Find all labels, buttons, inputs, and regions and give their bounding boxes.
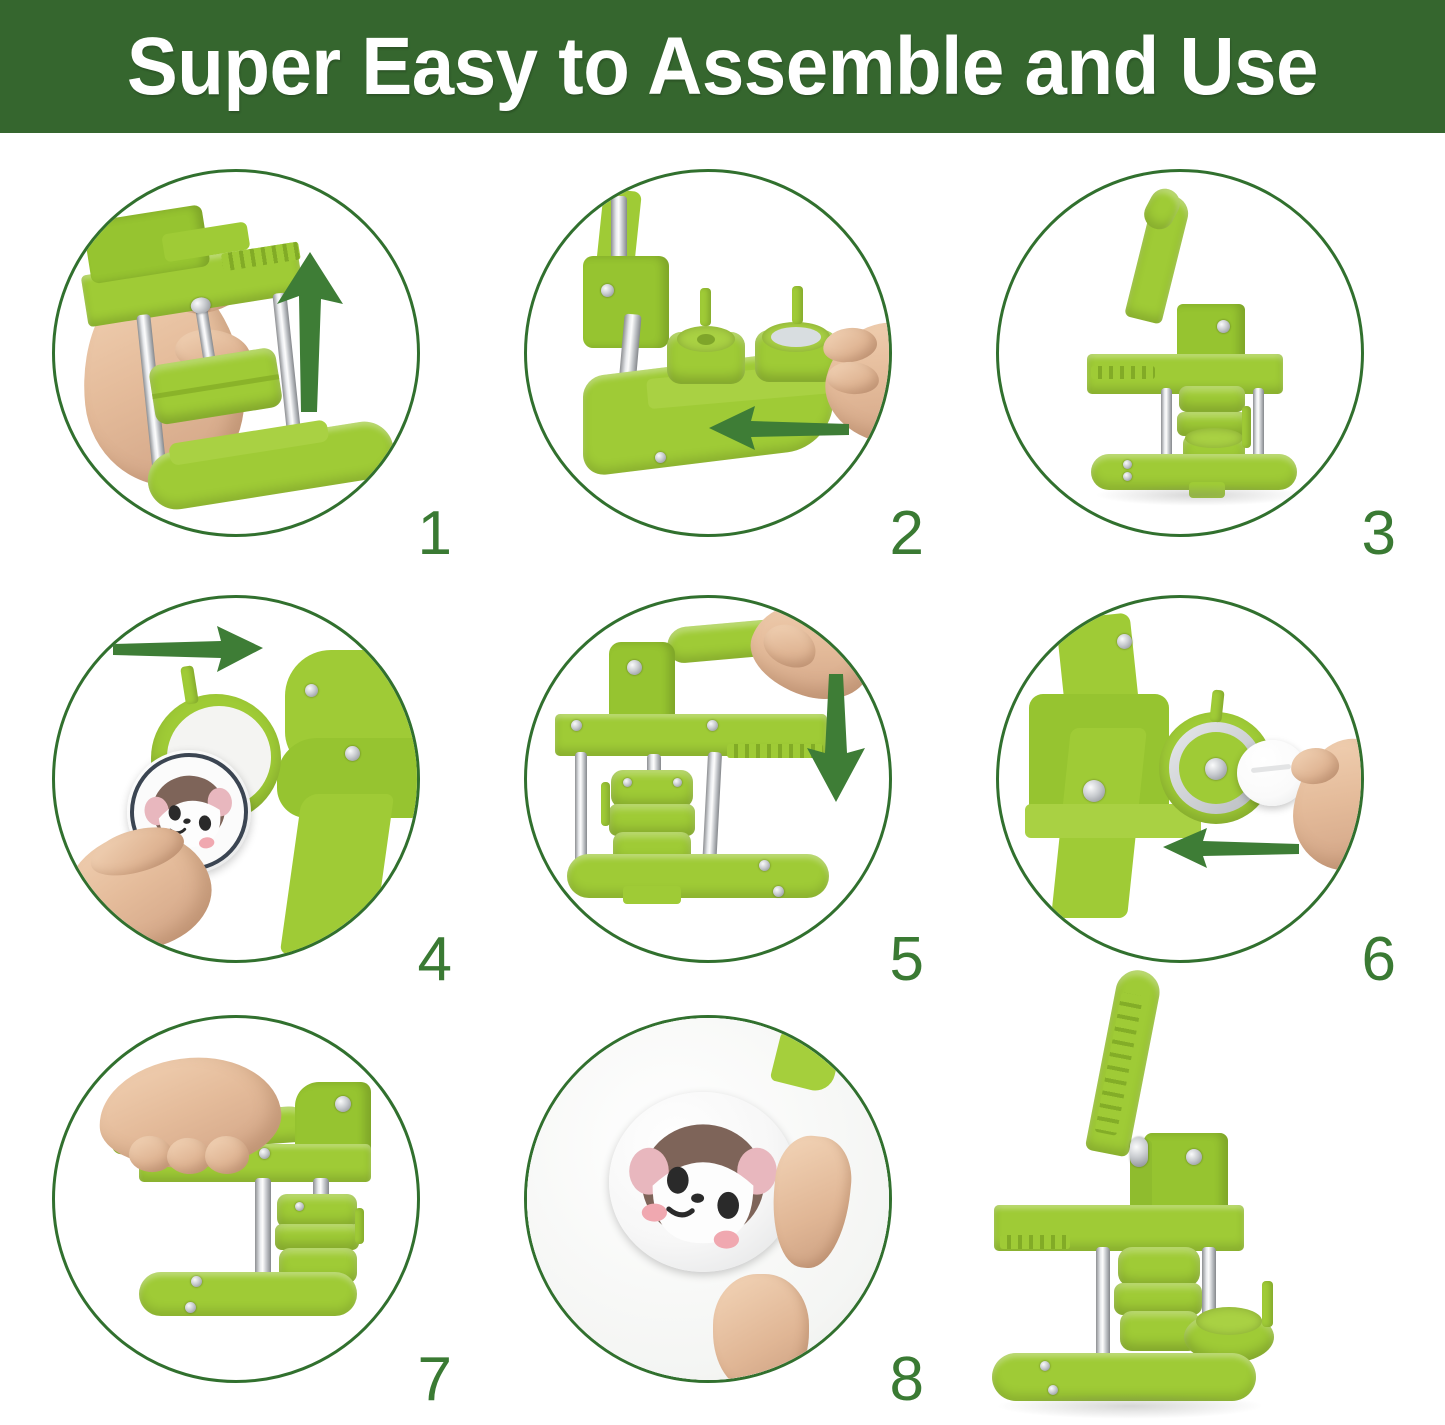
step-number: 3 <box>1362 503 1396 565</box>
base-foot <box>623 886 681 904</box>
upper-mold <box>1118 1247 1200 1287</box>
screw-icon <box>571 720 582 731</box>
screw-icon <box>191 1276 202 1287</box>
step-7-photo-frame <box>52 1015 420 1383</box>
hero-product-scene <box>944 953 1414 1425</box>
screw-icon <box>673 778 682 787</box>
guide-pillar-left <box>1161 388 1172 464</box>
header-banner: Super Easy to Assemble and Use <box>0 0 1445 133</box>
step-1-scene <box>55 172 420 537</box>
step-4-scene <box>55 598 420 963</box>
screw-icon <box>1117 634 1132 649</box>
upper-mold <box>277 1194 357 1228</box>
step-7-scene <box>55 1018 420 1383</box>
screw-icon <box>1123 460 1132 469</box>
screw-icon <box>185 1302 196 1313</box>
lever-teeth <box>1091 366 1155 379</box>
screw-icon <box>627 660 642 675</box>
step-number: 1 <box>418 503 452 565</box>
pivot-pin-icon <box>1130 1137 1148 1167</box>
step-5-photo-frame <box>524 595 892 963</box>
screw-icon <box>655 452 666 463</box>
steps-grid: 1 <box>0 133 1445 1425</box>
step-1-cell: 1 <box>0 143 470 567</box>
arrow-left-icon <box>709 404 849 450</box>
step-8-photo-frame <box>524 1015 892 1383</box>
center-screw-icon <box>1205 758 1227 780</box>
screw-icon <box>1083 780 1105 802</box>
base-plate <box>567 854 829 898</box>
machine-column <box>280 794 394 954</box>
arrow-up-icon <box>271 252 349 412</box>
screw-icon <box>1186 1149 1202 1165</box>
mold-cavity <box>1185 428 1243 448</box>
screw-icon <box>345 746 360 761</box>
step-3-cell: 3 <box>944 143 1414 567</box>
screw-icon <box>773 886 784 897</box>
step-number: 2 <box>890 503 924 565</box>
finger-icon <box>205 1136 249 1174</box>
arrow-down-icon <box>803 674 869 802</box>
guide-pillar-right <box>702 752 722 871</box>
monkey-face-icon <box>609 1092 797 1272</box>
step-6-cell: 6 <box>944 569 1414 993</box>
step-4-photo-frame <box>52 595 420 963</box>
step-1-photo-frame <box>52 169 420 537</box>
mold-release-post <box>1262 1281 1273 1327</box>
spare-mold-cavity <box>1196 1307 1262 1335</box>
guide-pillar-left <box>575 752 587 870</box>
guide-pillar-right <box>1253 388 1264 464</box>
screw-icon <box>335 1096 351 1112</box>
screw-icon <box>1048 1385 1058 1395</box>
mid-mold <box>275 1224 359 1250</box>
step-3-scene <box>999 172 1364 537</box>
step-number: 8 <box>890 1349 924 1411</box>
drop-shadow <box>1095 484 1301 506</box>
drop-shadow <box>996 1393 1264 1419</box>
screw-icon <box>601 284 614 297</box>
screw-icon <box>759 860 770 871</box>
screw-icon <box>623 778 632 787</box>
screw-icon <box>707 720 718 731</box>
step-6-scene <box>999 598 1364 963</box>
step-3-photo-frame <box>996 169 1364 537</box>
screw-icon <box>1217 320 1230 333</box>
step-5-cell: 5 <box>472 569 942 993</box>
step-7-cell: 7 <box>0 989 470 1413</box>
upper-mold <box>611 770 693 808</box>
mold-release-post <box>355 1208 364 1244</box>
arrow-left-icon <box>1163 826 1299 868</box>
finished-button <box>609 1092 797 1272</box>
step-8-cell: 8 <box>472 989 942 1413</box>
mold-release-post <box>1242 406 1251 448</box>
base-plate <box>139 1272 357 1316</box>
finger-icon <box>713 1274 809 1383</box>
step-6-photo-frame <box>996 595 1364 963</box>
mold-release-post <box>601 782 610 826</box>
mold-lower <box>667 320 745 386</box>
step-number: 4 <box>418 929 452 991</box>
screw-icon <box>1040 1361 1050 1371</box>
step-4-cell: 4 <box>0 569 470 993</box>
page-title: Super Easy to Assemble and Use <box>127 26 1318 108</box>
upper-mold <box>1179 386 1245 412</box>
screw-icon <box>259 1148 270 1159</box>
screw-icon <box>305 684 318 697</box>
step-number: 6 <box>1362 929 1396 991</box>
step-number: 5 <box>890 929 924 991</box>
step-2-photo-frame <box>524 169 892 537</box>
infographic-page: Super Easy to Assemble and Use <box>0 0 1445 1425</box>
mold-post <box>792 286 803 324</box>
step-2-scene <box>527 172 892 537</box>
mold-post <box>700 288 711 326</box>
screw-icon <box>1123 472 1132 481</box>
lever-teeth <box>1000 1235 1070 1249</box>
screw-icon <box>295 1202 304 1211</box>
step-2-cell: 2 <box>472 143 942 567</box>
step-5-scene <box>527 598 892 963</box>
arrow-right-icon <box>113 624 263 672</box>
step-number: 7 <box>418 1349 452 1411</box>
step-8-scene <box>527 1018 892 1383</box>
hero-product-cell <box>944 953 1414 1425</box>
